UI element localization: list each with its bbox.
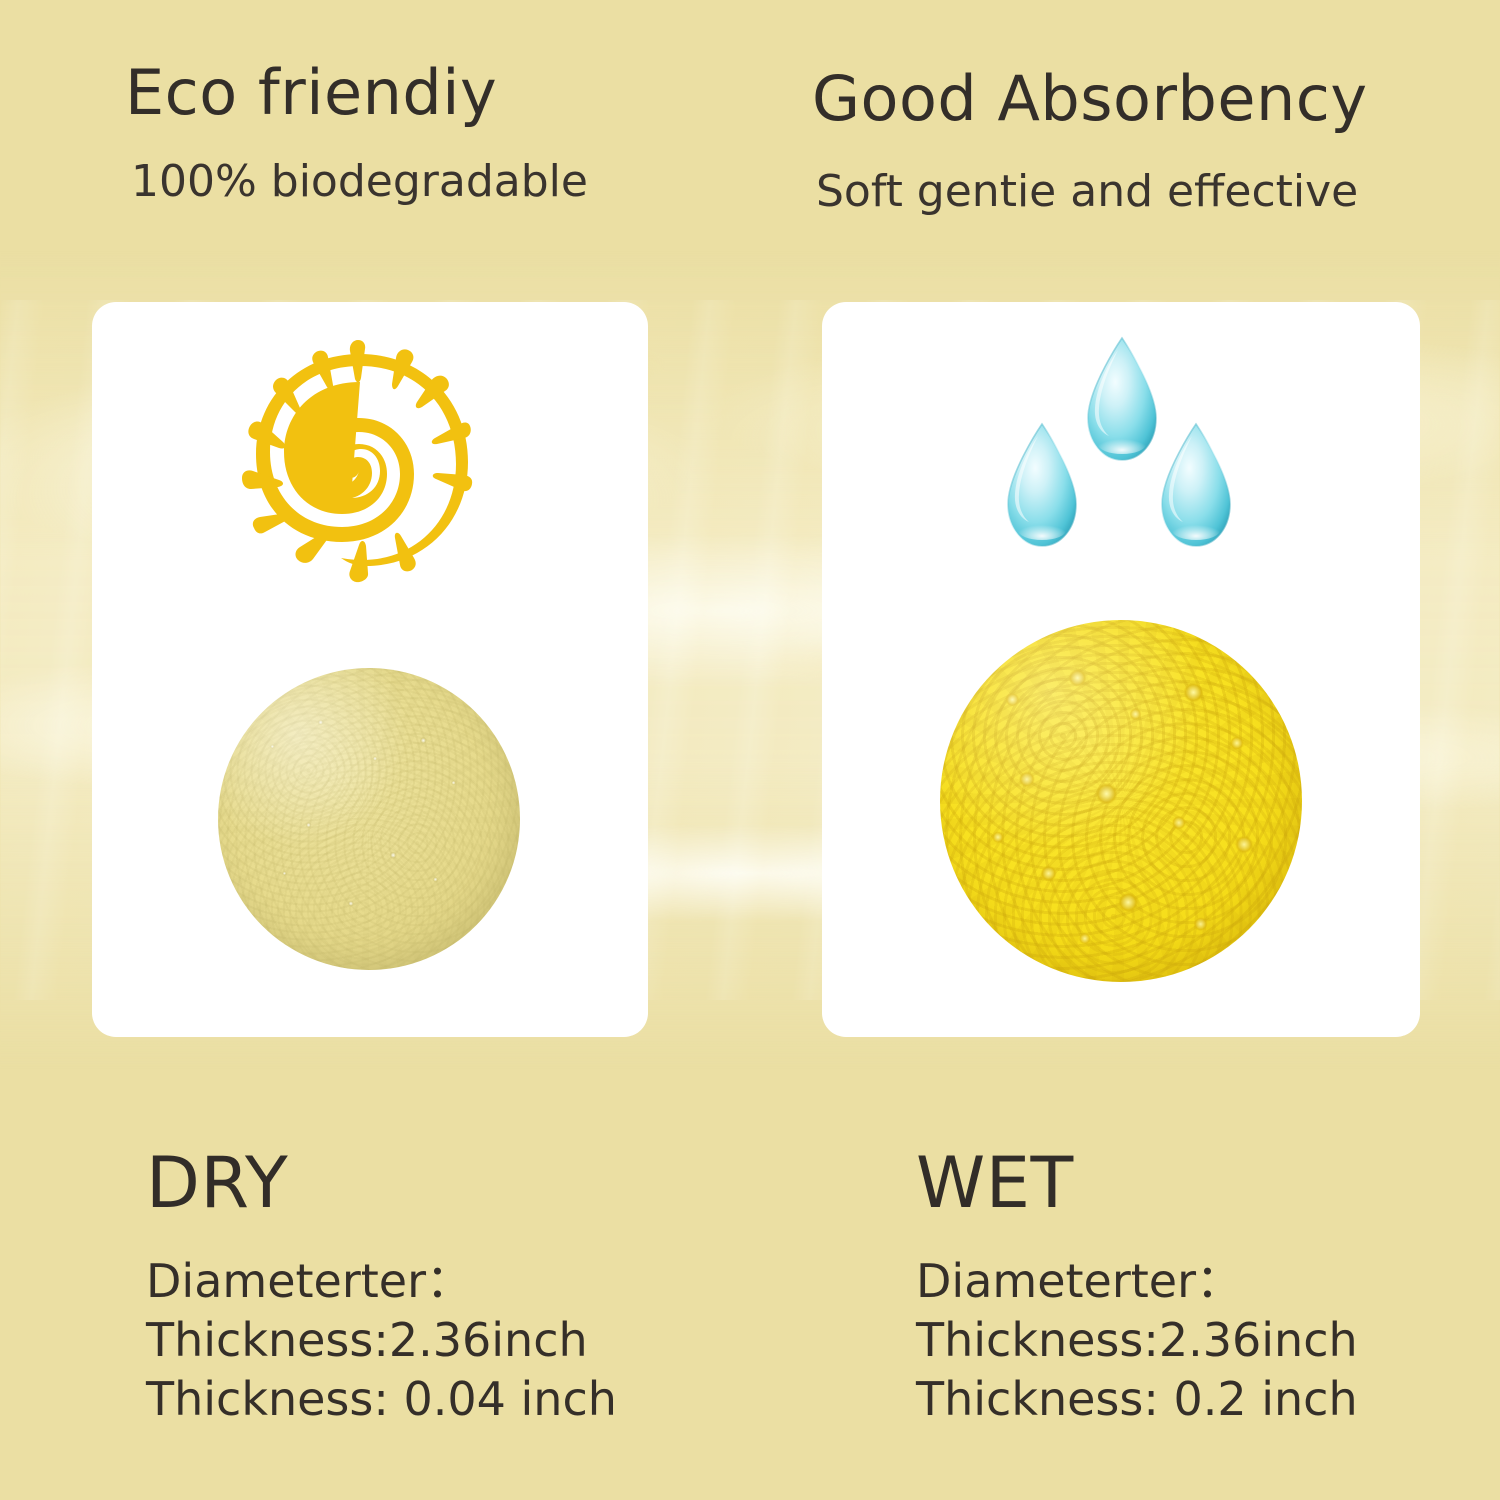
heading-block-dry: Eco friendiy 100% biodegradable bbox=[125, 62, 588, 204]
droplet-right bbox=[1162, 424, 1230, 546]
spec-line-diameter-wet: Diameterter： bbox=[916, 1252, 1358, 1311]
heading-subtitle-wet: Soft gentie and effective bbox=[816, 170, 1368, 214]
spec-line-thickness-a-dry: Thickness:2.36inch bbox=[146, 1311, 617, 1370]
spec-lines-wet: Diameterter： Thickness:2.36inch Thicknes… bbox=[916, 1252, 1358, 1429]
water-droplets-icon bbox=[996, 332, 1248, 564]
sun-icon bbox=[232, 338, 488, 594]
dry-sponge-image bbox=[218, 668, 520, 970]
spec-block-dry: DRY Diameterter： Thickness:2.36inch Thic… bbox=[146, 1148, 617, 1429]
product-infographic: Eco friendiy 100% biodegradable Good Abs… bbox=[0, 0, 1500, 1500]
heading-title-dry: Eco friendiy bbox=[125, 62, 588, 124]
droplet-left bbox=[1008, 424, 1076, 546]
droplet-top bbox=[1088, 338, 1156, 460]
spec-line-diameter-dry: Diameterter： bbox=[146, 1252, 617, 1311]
wet-sponge-image bbox=[940, 620, 1302, 982]
spec-line-thickness-a-wet: Thickness:2.36inch bbox=[916, 1311, 1358, 1370]
spec-title-dry: DRY bbox=[146, 1148, 617, 1218]
spec-line-thickness-b-dry: Thickness: 0.04 inch bbox=[146, 1370, 617, 1429]
spec-title-wet: WET bbox=[916, 1148, 1358, 1218]
spec-block-wet: WET Diameterter： Thickness:2.36inch Thic… bbox=[916, 1148, 1358, 1429]
spec-lines-dry: Diameterter： Thickness:2.36inch Thicknes… bbox=[146, 1252, 617, 1429]
heading-subtitle-dry: 100% biodegradable bbox=[131, 160, 588, 204]
spec-line-thickness-b-wet: Thickness: 0.2 inch bbox=[916, 1370, 1358, 1429]
heading-title-wet: Good Absorbency bbox=[812, 68, 1368, 130]
heading-block-wet: Good Absorbency Soft gentie and effectiv… bbox=[812, 68, 1368, 214]
